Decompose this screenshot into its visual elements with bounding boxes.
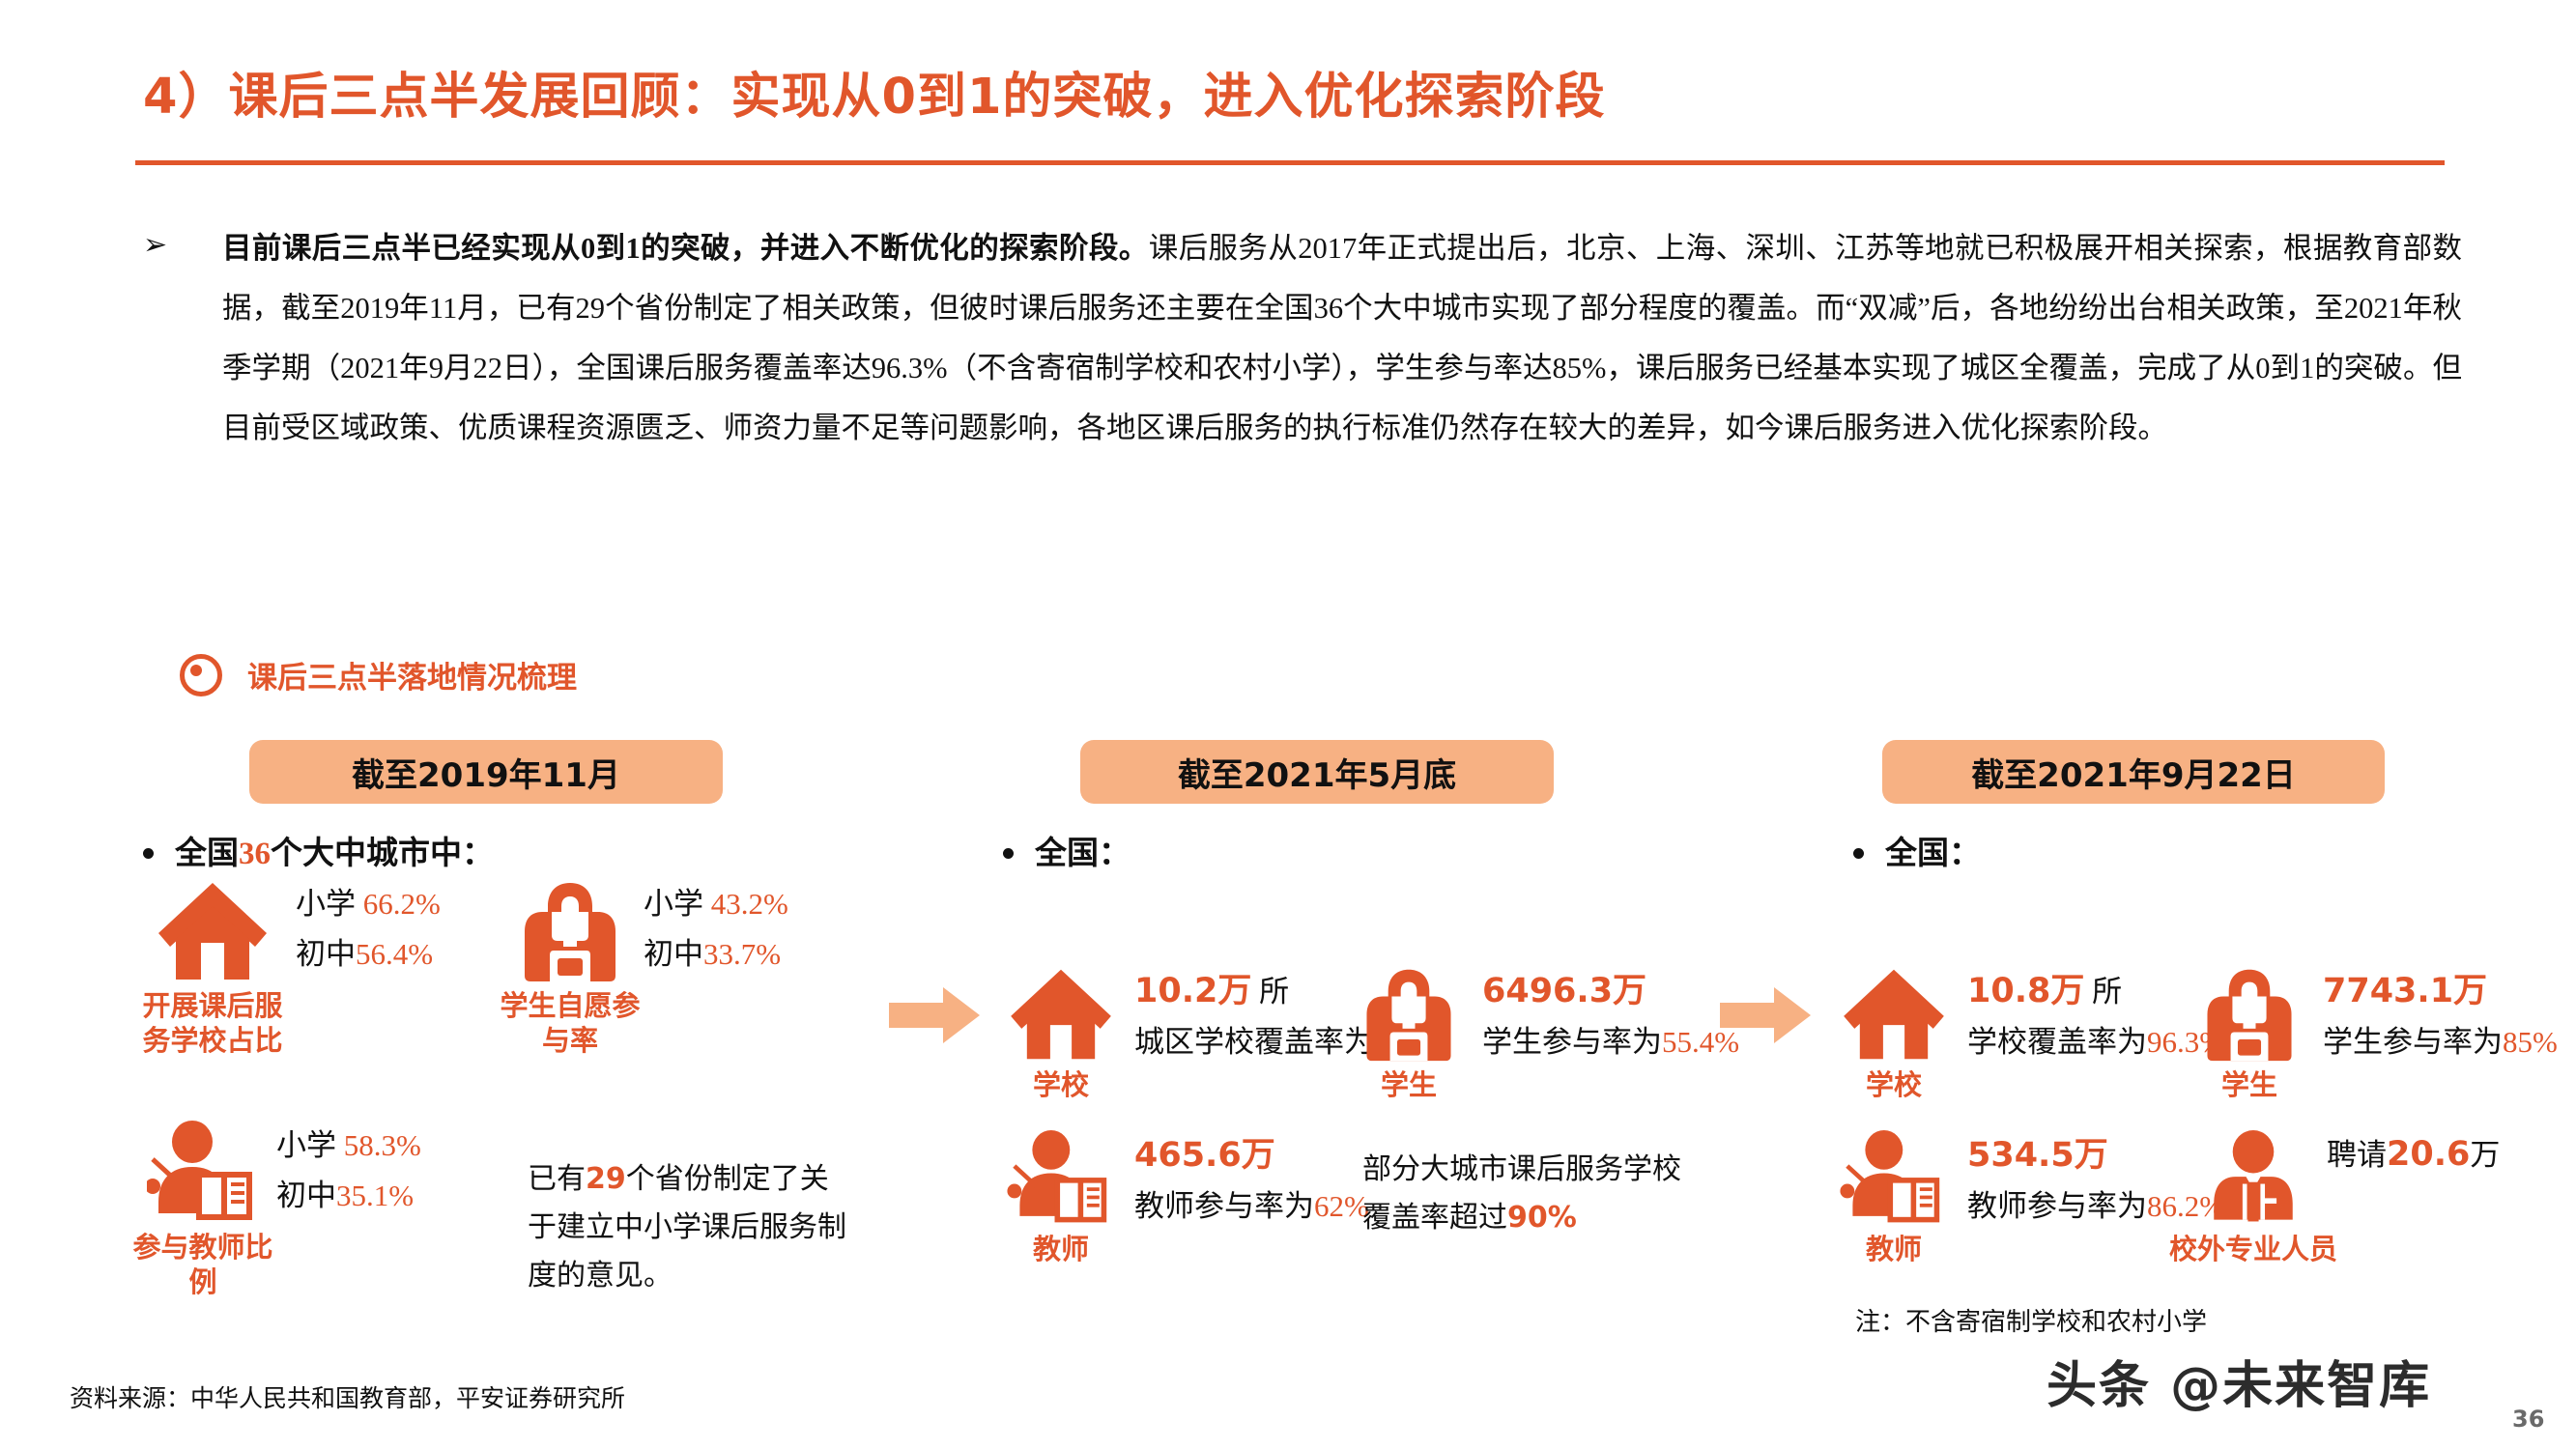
line1-label: 小学 [296,887,356,921]
stat-text: 7743.1万 学生参与率为85% [2323,966,2558,1067]
subtitle-prefix: 全国 [1035,837,1099,871]
stat-student-2019: 学生自愿参与率 小学 43.2% 初中33.7% [512,879,788,1059]
stat-icon-label: 教师 [1866,1233,1922,1267]
ring-bullet-icon [180,654,222,696]
big-value: 10.8万 [1967,972,2084,1010]
line1-label: 小学 [644,887,703,921]
line1-value: 66.2% [363,887,441,921]
desc-pre: 学生参与率为 [2323,1025,2503,1059]
desc-pre: 聘请 [2327,1138,2387,1172]
line2-value: 35.1% [336,1179,414,1212]
page-title: 4）课后三点半发展回顾：实现从0到1的突破，进入优化探索阶段 [143,56,1605,128]
stat-icon-label: 学生 [2221,1068,2277,1103]
dot-icon [143,848,154,859]
stat-icon-label: 教师 [1033,1233,1089,1267]
column-header-2021-05: 截至2021年5月底 [1080,740,1554,804]
stat-text: 聘请20.6万 [2327,1130,2520,1179]
desc-accent: 20.6 [2387,1135,2470,1174]
professional-icon [2203,1130,2304,1227]
big-value: 465.6万 [1134,1136,1275,1175]
stat-student-2021-05: 学生 6496.3万 学生参与率为55.4% [1351,966,1739,1103]
desc-accent: 85% [2503,1025,2558,1059]
subtitle-prefix: 全国 [175,837,239,871]
source-note: 资料来源：中华人民共和国教育部，平安证券研究所 [70,1379,625,1414]
page-number: 36 [2512,1406,2544,1433]
stat-teacher-2019: 参与教师比例 小学 58.3% 初中35.1% [145,1121,421,1300]
stat-icon-wrap: 学校 [1003,966,1119,1103]
column-subtitle-2021-05: 全国： [1003,827,1131,873]
note-2021-05: 部分大城市课后服务学校覆盖率超过90% [1362,1146,1681,1242]
desc-pre: 城区学校覆盖率为 [1134,1025,1374,1059]
body-lead: 目前课后三点半已经实现从0到1的突破，并进入不断优化的探索阶段。 [222,232,1149,265]
stat-icon-label: 参与教师比例 [126,1231,280,1300]
column-footnote: 注：不含寄宿制学校和农村小学 [1855,1302,2207,1338]
note-pre: 已有 [528,1163,586,1195]
stat-text: 534.5万 教师参与率为86.2% [1967,1130,2224,1232]
big-unit: 所 [2092,975,2122,1009]
stat-text: 小学 58.3% 初中35.1% [276,1121,421,1221]
backpack-icon [519,879,621,983]
stat-icon-wrap: 学生自愿参与率 [512,879,628,1059]
stat-icon-label: 学校 [1866,1068,1922,1103]
stat-professional-2021-09: 校外专业人员 聘请20.6万 [2195,1130,2520,1267]
column-header-2021-09: 截至2021年9月22日 [1882,740,2385,804]
teacher-icon [1838,1130,1950,1227]
note-2019: 已有29个省份制定了关于建立中小学课后服务制度的意见。 [528,1155,846,1300]
stat-text: 小学 43.2% 初中33.7% [644,879,788,980]
column-subtitle-2021-09: 全国： [1853,827,1981,873]
dot-icon [1853,848,1864,859]
stat-icon-wrap: 参与教师比例 [145,1121,261,1300]
stat-icon-label: 学生自愿参与率 [493,989,647,1059]
dot-icon [1003,848,1014,859]
line2-value: 33.7% [703,937,781,971]
house-icon [1838,966,1950,1063]
line1-value: 43.2% [711,887,788,921]
desc-pre: 教师参与率为 [1134,1189,1314,1223]
line2-label: 初中 [296,937,356,971]
watermark: 头条 @未来智库 [2046,1345,2431,1417]
subheading-label: 课后三点半落地情况梳理 [247,653,577,696]
stat-icon-wrap: 学生 [1351,966,1467,1103]
subheading: 课后三点半落地情况梳理 [180,653,577,696]
stat-icon-wrap: 学校 [1836,966,1952,1103]
stat-school-2019: 开展课后服务学校占比 小学 66.2% 初中56.4% [145,879,441,1059]
line1-label: 小学 [276,1128,336,1162]
flow-arrow-1 [889,985,982,1045]
big-value: 10.2万 [1134,972,1251,1010]
stat-student-2021-09: 学生 7743.1万 学生参与率为85% [2191,966,2558,1103]
stat-icon-wrap: 开展课后服务学校占比 [145,879,280,1059]
column-subtitle-2019: 全国36个大中城市中： [143,827,494,873]
stat-icon-label: 学校 [1033,1068,1089,1103]
house-icon [153,879,272,983]
teacher-icon [1005,1130,1117,1227]
stat-text: 小学 66.2% 初中56.4% [296,879,441,980]
backpack-icon [1360,966,1458,1063]
subtitle-prefix: 全国 [1885,837,1949,871]
backpack-icon [2200,966,2299,1063]
column-header-2019: 截至2019年11月 [249,740,723,804]
desc-pre: 学生参与率为 [1482,1025,1662,1059]
subtitle-suffix: ： [1949,837,1981,871]
flow-arrow-2 [1720,985,1813,1045]
stat-icon-wrap: 教师 [1836,1130,1952,1267]
subtitle-accent: 36 [239,837,271,871]
desc-accent: 62% [1314,1189,1369,1223]
big-value: 534.5万 [1967,1136,2108,1175]
stat-text: 6496.3万 学生参与率为55.4% [1482,966,1739,1067]
big-value: 6496.3万 [1482,972,1646,1010]
house-icon [1005,966,1117,1063]
subtitle-suffix: ： [1099,837,1131,871]
line2-label: 初中 [644,937,703,971]
body-paragraph: 目前课后三点半已经实现从0到1的突破，并进入不断优化的探索阶段。课后服务从201… [222,218,2462,458]
stat-teacher-2021-09: 教师 534.5万 教师参与率为86.2% [1836,1130,2224,1267]
desc-pre: 教师参与率为 [1967,1189,2147,1223]
stat-text: 465.6万 教师参与率为62% [1134,1130,1369,1232]
line2-value: 56.4% [356,937,433,971]
stat-teacher-2021-05: 教师 465.6万 教师参与率为62% [1003,1130,1369,1267]
stat-icon-wrap: 教师 [1003,1130,1119,1267]
stat-icon-label: 校外专业人员 [2169,1233,2337,1267]
stat-text: 10.8万 所 学校覆盖率为96.3% [1967,966,2224,1067]
big-unit: 所 [1259,975,1289,1009]
stat-icon-wrap: 学生 [2191,966,2307,1103]
body-block: ➢ 目前课后三点半已经实现从0到1的突破，并进入不断优化的探索阶段。课后服务从2… [143,218,2462,458]
desc-post: 万 [2470,1138,2500,1172]
line1-value: 58.3% [344,1128,421,1162]
desc-pre: 学校覆盖率为 [1967,1025,2147,1059]
big-value: 7743.1万 [2323,972,2487,1010]
line2-label: 初中 [276,1179,336,1212]
stat-icon-label: 开展课后服务学校占比 [135,989,290,1059]
stat-school-2021-09: 学校 10.8万 所 学校覆盖率为96.3% [1836,966,2224,1103]
bullet-arrow-icon: ➢ [143,228,167,262]
stat-icon-label: 学生 [1381,1068,1437,1103]
subtitle-suffix: 个大中城市中： [271,837,494,871]
title-divider [135,160,2445,165]
note-accent: 90% [1507,1201,1577,1235]
stat-icon-wrap: 校外专业人员 [2195,1130,2311,1267]
note-accent: 29 [586,1162,626,1196]
teacher-icon [147,1121,259,1225]
